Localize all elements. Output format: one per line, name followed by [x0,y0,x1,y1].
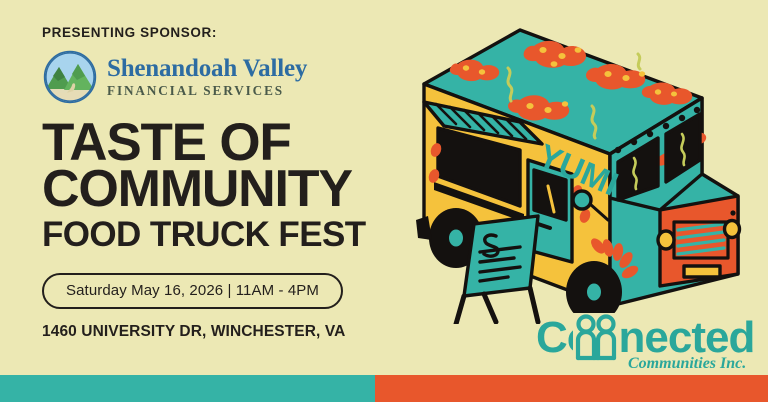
sponsor-tagline: FINANCIAL SERVICES [107,84,307,97]
sponsor-logo-lockup: Shenandoah Valley FINANCIAL SERVICES [42,49,442,105]
poster-content-column: PRESENTING SPONSOR: [42,26,442,340]
sponsor-wordmark: Shenandoah Valley FINANCIAL SERVICES [107,56,307,98]
food-truck-illustration: YUMI [402,24,768,324]
two-people-icon [573,313,619,369]
organizer-logo: Connected Communities Inc. [536,312,754,370]
headline-line-2: COMMUNITY [42,166,442,213]
footer-color-bar [0,375,768,402]
sponsor-name: Shenandoah Valley [107,56,307,82]
organizer-subname: Communities Inc. [628,355,746,370]
headline-line-1: TASTE OF [42,119,442,167]
event-address: 1460 UNIVERSITY DR, WINCHESTER, VA [42,324,442,340]
footer-bar-left [0,375,375,402]
event-datetime-badge: Saturday May 16, 2026 | 11AM - 4PM [42,273,343,309]
event-poster: PRESENTING SPONSOR: [0,0,768,402]
footer-bar-right [375,375,768,402]
headline-line-3: FOOD TRUCK FEST [42,215,442,254]
mountain-river-circle-icon [42,49,98,105]
page-title: TASTE OF COMMUNITY FOOD TRUCK FEST [42,119,442,255]
presenting-sponsor-label: PRESENTING SPONSOR: [42,26,442,40]
